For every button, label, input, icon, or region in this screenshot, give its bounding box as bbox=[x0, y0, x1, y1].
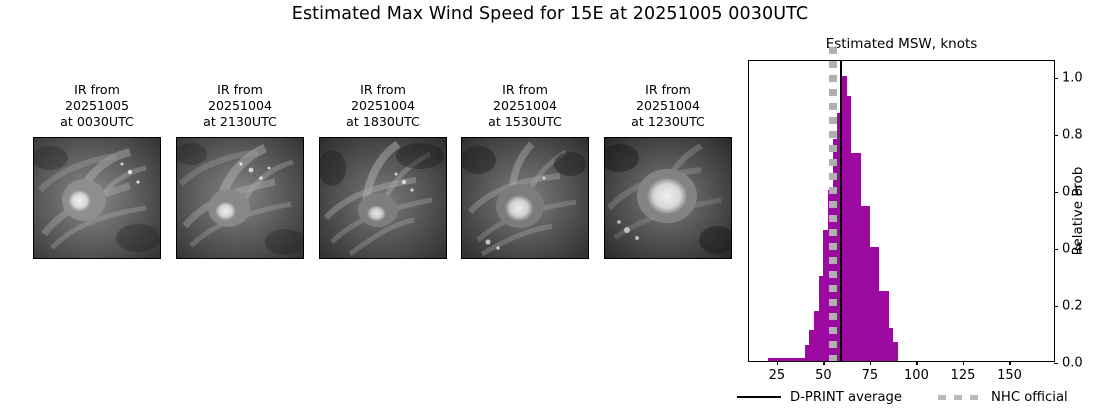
histogram-bar bbox=[893, 342, 898, 361]
y-tick-label: 0.0 bbox=[1062, 356, 1083, 371]
y-tick-label: 0.8 bbox=[1062, 128, 1083, 143]
satellite-image bbox=[176, 137, 304, 259]
x-tick-mark bbox=[963, 361, 964, 365]
satellite-panel-caption: IR from 20251005 at 0030UTC bbox=[33, 82, 161, 131]
satellite-panel-1[interactable]: IR from 20251004 at 2130UTC bbox=[176, 82, 304, 259]
x-tick-mark bbox=[916, 361, 917, 365]
y-tick-label: 1.0 bbox=[1062, 71, 1083, 86]
y-tick-label: 0.2 bbox=[1062, 299, 1083, 314]
satellite-panel-caption: IR from 20251004 at 1530UTC bbox=[461, 82, 589, 131]
legend-label: NHC official bbox=[991, 390, 1068, 405]
x-tick-label: 25 bbox=[769, 368, 786, 383]
y-tick-mark bbox=[1054, 192, 1058, 193]
x-tick-mark bbox=[777, 361, 778, 365]
legend-entry-dprint-average: D-PRINT average bbox=[737, 390, 902, 405]
satellite-panel-2[interactable]: IR from 20251004 at 1830UTC bbox=[319, 82, 447, 259]
histogram-axes[interactable]: 255075100125150 0.00.20.40.60.81.0 bbox=[748, 60, 1055, 362]
chart-legend: D-PRINT average NHC official bbox=[737, 387, 1077, 407]
satellite-panel-caption: IR from 20251004 at 2130UTC bbox=[176, 82, 304, 131]
x-tick-label: 150 bbox=[997, 368, 1022, 383]
x-tick-mark bbox=[823, 361, 824, 365]
x-tick-mark bbox=[870, 361, 871, 365]
x-tick-label: 125 bbox=[951, 368, 976, 383]
satellite-panel-caption: IR from 20251004 at 1830UTC bbox=[319, 82, 447, 131]
satellite-panel-0[interactable]: IR from 20251005 at 0030UTC bbox=[33, 82, 161, 259]
x-tick-label: 75 bbox=[862, 368, 879, 383]
x-tick-label: 100 bbox=[904, 368, 929, 383]
y-tick-mark bbox=[1054, 306, 1058, 307]
y-tick-mark bbox=[1054, 363, 1058, 364]
y-axis-label: Relative Prob bbox=[1070, 167, 1086, 256]
satellite-panel-3[interactable]: IR from 20251004 at 1530UTC bbox=[461, 82, 589, 259]
satellite-image bbox=[604, 137, 732, 259]
solid-line-icon bbox=[737, 396, 781, 398]
satellite-panel-caption: IR from 20251004 at 1230UTC bbox=[604, 82, 732, 131]
legend-label: D-PRINT average bbox=[790, 390, 902, 405]
x-tick-label: 50 bbox=[815, 368, 832, 383]
legend-entry-nhc-official: NHC official bbox=[938, 390, 1068, 405]
satellite-panel-4[interactable]: IR from 20251004 at 1230UTC bbox=[604, 82, 732, 259]
satellite-image bbox=[461, 137, 589, 259]
y-tick-mark bbox=[1054, 135, 1058, 136]
nhc-official-line bbox=[829, 47, 837, 361]
dprint-average-line bbox=[840, 61, 842, 361]
satellite-image bbox=[319, 137, 447, 259]
y-tick-mark bbox=[1054, 249, 1058, 250]
satellite-image bbox=[33, 137, 161, 259]
x-tick-mark bbox=[1009, 361, 1010, 365]
chart-title: Estimated MSW, knots bbox=[748, 36, 1055, 52]
y-tick-mark bbox=[1054, 78, 1058, 79]
page-title: Estimated Max Wind Speed for 15E at 2025… bbox=[0, 4, 1100, 24]
figure-canvas: Estimated Max Wind Speed for 15E at 2025… bbox=[0, 0, 1100, 409]
histogram-bars bbox=[749, 61, 1054, 361]
dashed-line-icon bbox=[938, 395, 982, 400]
